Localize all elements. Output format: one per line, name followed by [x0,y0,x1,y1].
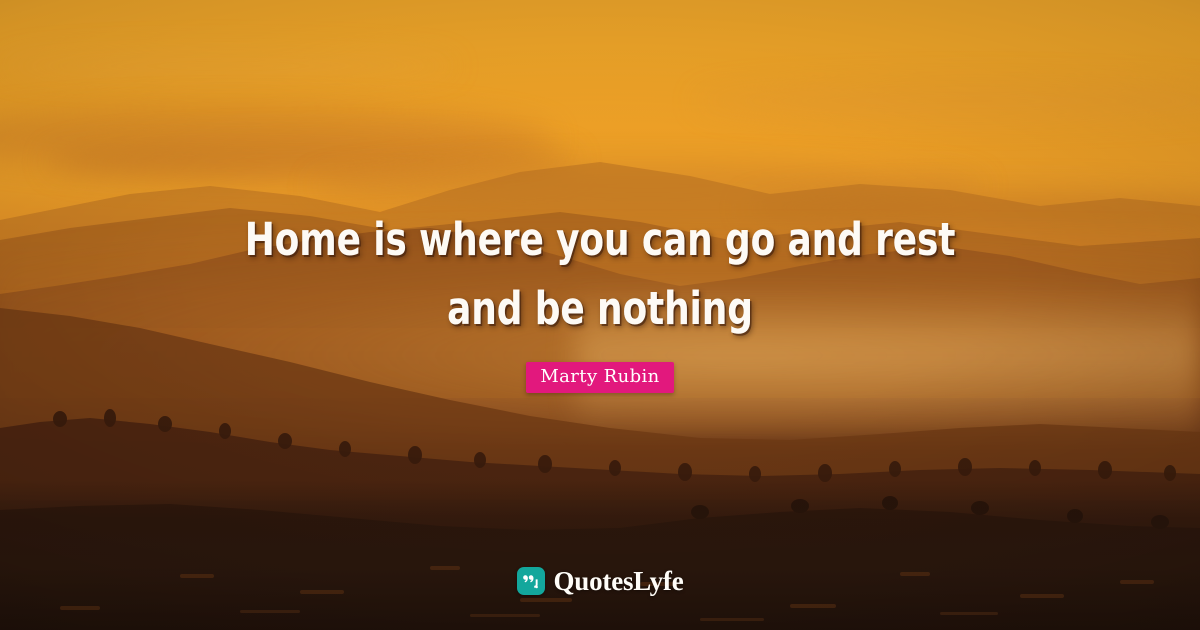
quote-text: Home is where you can go and rest and be… [216,205,984,343]
quote-marks-icon [517,567,545,595]
brand-logo[interactable]: QuotesLyfe [0,567,1200,595]
brand-name: QuotesLyfe [554,568,684,595]
quote-card: Home is where you can go and rest and be… [0,0,1200,630]
quote-block: Home is where you can go and rest and be… [0,205,1200,343]
card-content: Home is where you can go and rest and be… [0,0,1200,630]
author-badge[interactable]: Marty Rubin [526,362,673,393]
author-wrap: Marty Rubin [0,362,1200,393]
